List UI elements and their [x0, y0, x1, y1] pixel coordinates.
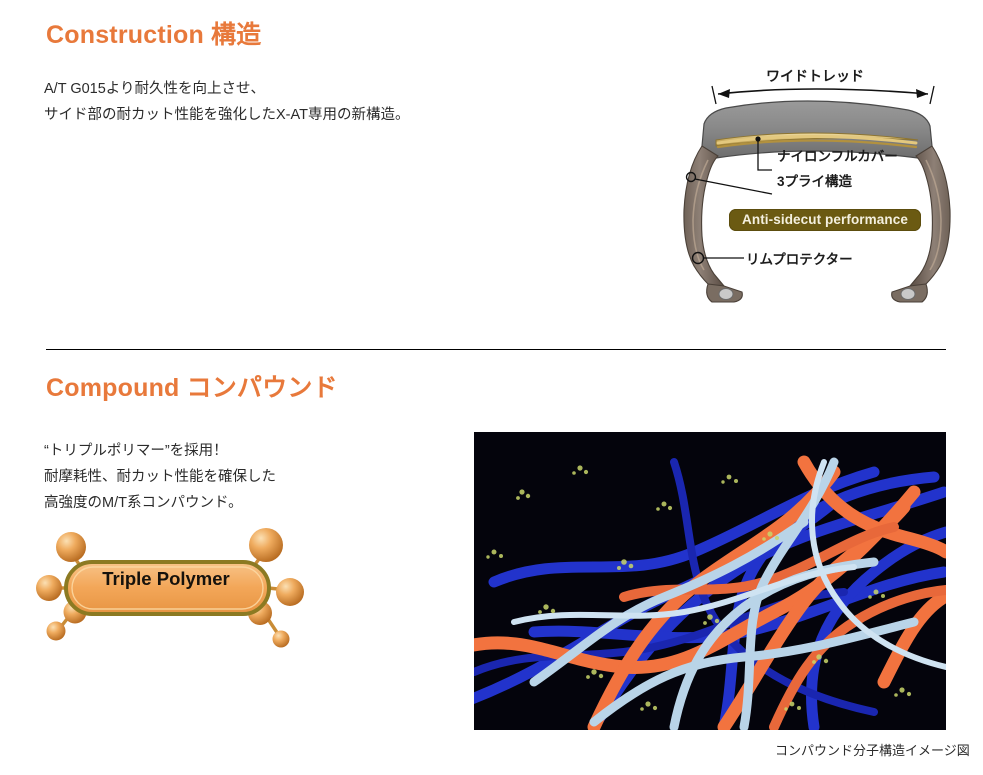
- compound-image-caption: コンパウンド分子構造イメージ図: [775, 740, 970, 759]
- heading-construction-jp: 構造: [211, 21, 261, 49]
- compound-structure-image: [474, 432, 946, 730]
- compound-description: “トリプルポリマー”を採用！ 耐摩耗性、耐カット性能を確保した 高強度のM/T系…: [44, 438, 276, 516]
- figure-label-three-ply: 3プライ構造: [777, 170, 852, 190]
- heading-construction-en: Construction: [46, 21, 204, 49]
- compound-copy-line-1: “トリプルポリマー”を採用！: [44, 438, 276, 464]
- figure-label-wide-tread: ワイドトレッド: [766, 66, 864, 86]
- construction-description: A/T G015より耐久性を向上させ、 サイド部の耐カット性能を強化したX-AT…: [44, 76, 409, 128]
- construction-copy-line-1: A/T G015より耐久性を向上させ、: [44, 76, 409, 102]
- section-divider: [46, 349, 946, 350]
- figure-label-nylon-full-cover: ナイロンフルカバー: [777, 145, 898, 165]
- status-badge-anti-sidecut: Anti-sidecut performance: [729, 209, 921, 231]
- molecule-icon: [30, 518, 310, 658]
- page-title-construction: Construction構造: [46, 15, 261, 51]
- construction-copy-line-2: サイド部の耐カット性能を強化したX-AT専用の新構造。: [44, 102, 409, 128]
- compound-copy-line-2: 耐摩耗性、耐カット性能を確保した: [44, 464, 276, 490]
- page-title-compound: Compoundコンパウンド: [46, 368, 338, 404]
- heading-compound-jp: コンパウンド: [187, 374, 338, 402]
- heading-compound-en: Compound: [46, 374, 180, 402]
- figure-label-rim-protector: リムプロテクター: [746, 248, 853, 268]
- compound-copy-line-3: 高強度のM/T系コンパウンド。: [44, 490, 276, 516]
- product-feature-page: Construction構造 A/T G015より耐久性を向上させ、 サイド部の…: [0, 0, 983, 775]
